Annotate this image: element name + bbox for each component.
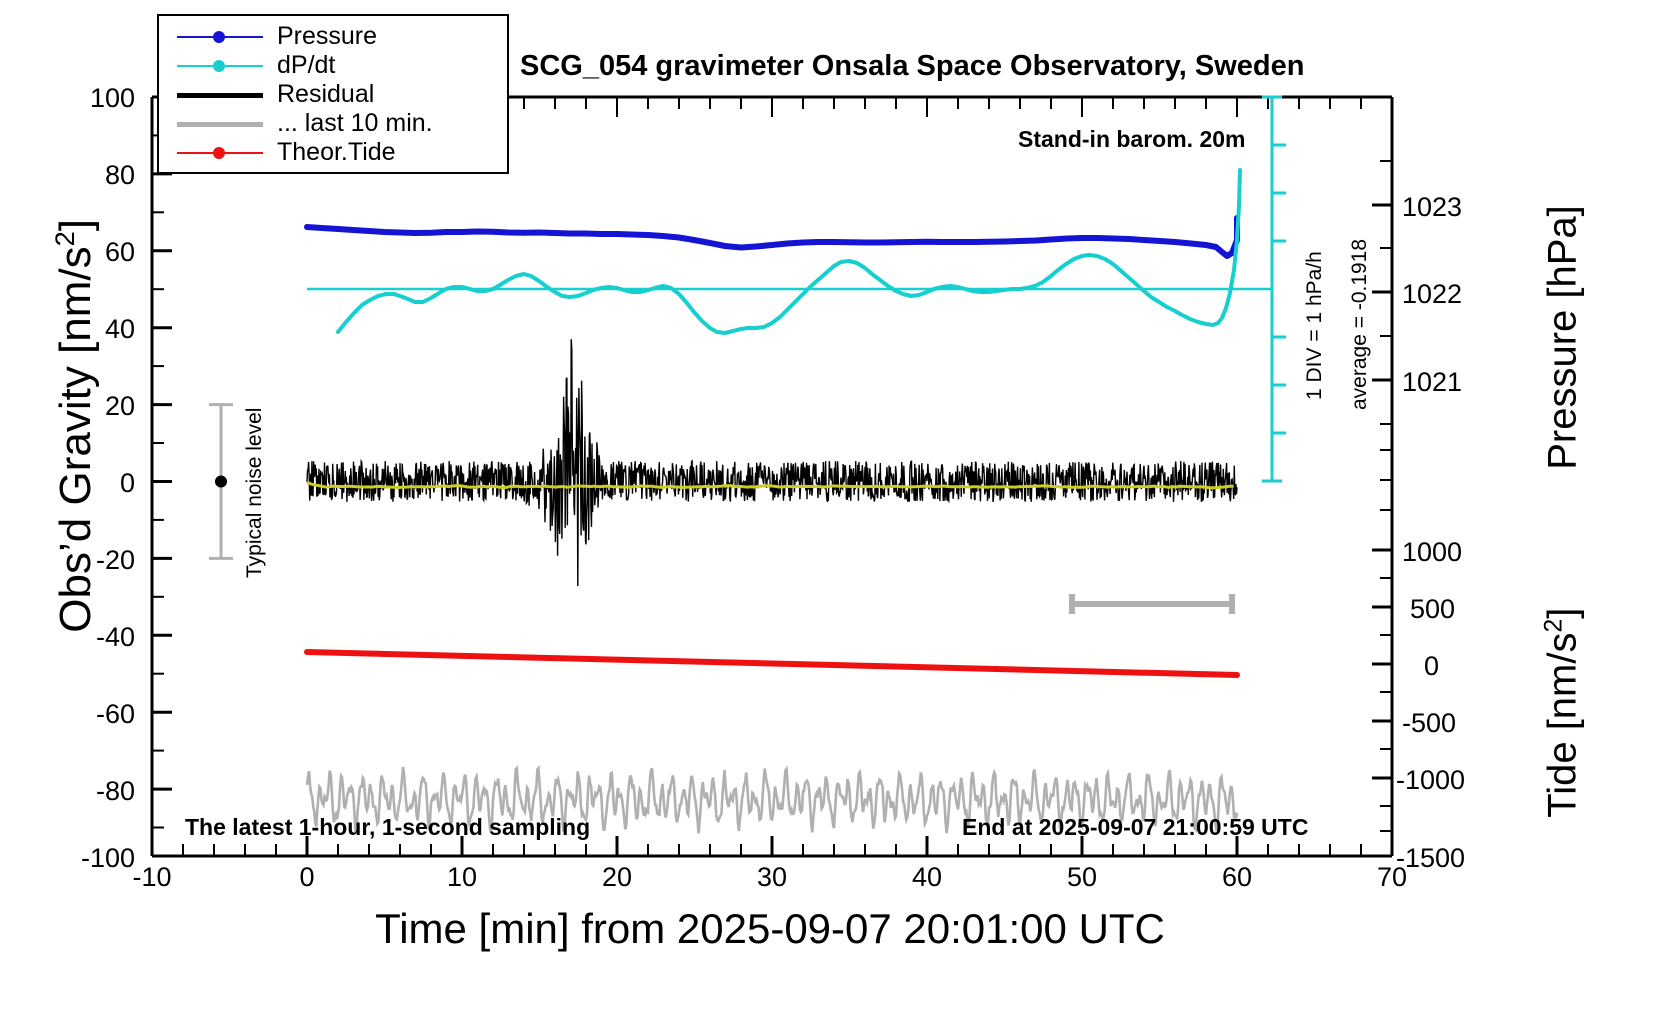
x-tick-m10: -10 — [102, 862, 202, 893]
y-tick-left-100: 100 — [30, 83, 135, 114]
series-pressure — [307, 218, 1237, 256]
legend: Pressure dP/dt Residual ... last 10 min. — [157, 14, 509, 174]
y-tick-left-40: 40 — [30, 314, 135, 345]
legend-item-dpdt[interactable]: dP/dt — [159, 51, 507, 80]
y-tick-left-20: 20 — [30, 391, 135, 422]
x-tick-60: 60 — [1187, 862, 1287, 893]
legend-item-last-10-min[interactable]: ... last 10 min. — [159, 109, 507, 138]
y-tick-tide-500: 500 — [1410, 594, 1455, 625]
series-theoretical-tide — [307, 652, 1237, 675]
right-axis-ticks — [1372, 205, 1392, 856]
y-tick-left-m60: -60 — [30, 699, 135, 730]
x-tick-40: 40 — [877, 862, 977, 893]
legend-label-theor-tide: Theor.Tide — [277, 138, 396, 167]
y-tick-right-1021: 1021 — [1402, 367, 1462, 398]
legend-swatch-last-10-min — [177, 115, 263, 133]
series-residual — [307, 339, 1237, 586]
y-tick-right-1022: 1022 — [1402, 279, 1462, 310]
y-tick-left-m80: -80 — [30, 776, 135, 807]
right-axis-minor-ticks — [1380, 161, 1392, 831]
left-axis-ticks — [152, 97, 172, 856]
x-axis-title: Time [min] from 2025-09-07 20:01:00 UTC — [120, 905, 1420, 953]
y-tick-left-60: 60 — [30, 237, 135, 268]
legend-swatch-theor-tide — [177, 144, 263, 162]
annotation-dpdt-average: average = -0.1918 — [1348, 239, 1372, 410]
plot-title: SCG_054 gravimeter Onsala Space Observat… — [520, 50, 1304, 83]
legend-label-pressure: Pressure — [277, 22, 377, 51]
legend-label-last-10-min: ... last 10 min. — [277, 109, 433, 138]
y-tick-right-1023: 1023 — [1402, 192, 1462, 223]
x-tick-50: 50 — [1032, 862, 1132, 893]
legend-item-residual[interactable]: Residual — [159, 80, 507, 109]
series-dpdt — [338, 170, 1240, 333]
annotation-stand-in-barom: Stand-in barom. 20m — [1018, 126, 1245, 153]
legend-swatch-dpdt — [177, 57, 263, 75]
legend-swatch-residual — [177, 86, 263, 104]
x-tick-70: 70 — [1342, 862, 1442, 893]
x-tick-20: 20 — [567, 862, 667, 893]
last-10-min-bar — [1072, 594, 1232, 614]
y-tick-tide-m500: -500 — [1402, 708, 1456, 739]
legend-item-theor-tide[interactable]: Theor.Tide — [159, 138, 507, 167]
legend-label-dpdt: dP/dt — [277, 51, 335, 80]
y-tick-tide-1000: 1000 — [1402, 537, 1462, 568]
y-tick-tide-m1000: -1000 — [1396, 765, 1465, 796]
x-tick-0: 0 — [257, 862, 357, 893]
y-axis-right-tide-title: Tide [nm/s2] — [1540, 523, 1585, 903]
annotation-div-scale: 1 DIV = 1 hPa/h — [1303, 251, 1327, 400]
y-axis-right-pressure-title: Pressure [hPa] — [1541, 123, 1586, 553]
x-tick-10: 10 — [412, 862, 512, 893]
annotation-sampling-note: The latest 1-hour, 1-second sampling — [185, 814, 590, 841]
annotation-typical-noise-level: Typical noise level — [243, 408, 267, 578]
legend-label-residual: Residual — [277, 80, 374, 109]
x-tick-30: 30 — [722, 862, 822, 893]
legend-swatch-pressure — [177, 28, 263, 46]
y-tick-tide-0: 0 — [1424, 651, 1439, 682]
y-tick-left-0: 0 — [30, 468, 135, 499]
y-tick-left-80: 80 — [30, 160, 135, 191]
y-tick-left-m40: -40 — [30, 622, 135, 653]
y-tick-left-m20: -20 — [30, 545, 135, 576]
annotation-end-time: End at 2025-09-07 21:00:59 UTC — [962, 814, 1308, 841]
typical-noise-errorbar — [209, 405, 233, 559]
legend-item-pressure[interactable]: Pressure — [159, 22, 507, 51]
